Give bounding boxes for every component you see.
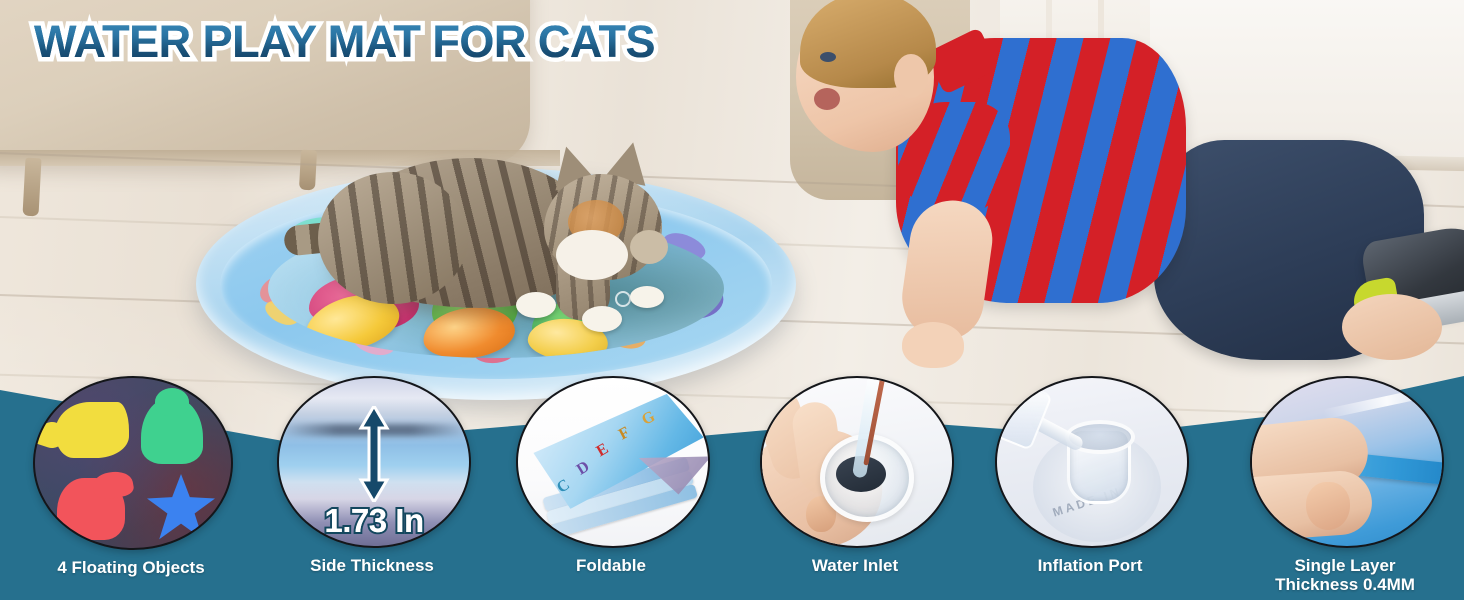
feature-label-inflation-port: Inflation Port — [995, 556, 1185, 575]
cat-paw — [630, 286, 664, 308]
foldable-image: C D E F G — [516, 376, 710, 548]
feature-label-water-inlet: Water Inlet — [760, 556, 950, 575]
fingernail — [1306, 482, 1350, 530]
child-ear — [894, 54, 928, 98]
port-cap — [995, 381, 1053, 451]
feature-label-single-layer-thickness: Single Layer Thickness 0.4MM — [1250, 556, 1440, 594]
feature-foldable[interactable]: C D E F G Foldable — [516, 376, 706, 575]
double-arrow-svg — [357, 406, 391, 502]
feature-label-side-thickness: Side Thickness — [277, 556, 467, 575]
child-hand — [902, 322, 964, 368]
folded-mat-stack: C D E F G — [526, 399, 697, 533]
cat-paw — [516, 292, 556, 318]
cat — [300, 138, 720, 358]
side-thickness-image: 1.73 In 1.73 In — [277, 376, 471, 548]
thickness-arrow-icon — [357, 406, 391, 507]
infographic-banner: WATER PLAY MAT FOR CATS WATER PLAY MAT F… — [0, 0, 1464, 600]
feature-water-inlet[interactable]: Water Inlet — [760, 376, 950, 575]
child-mouth — [814, 88, 840, 110]
water-inlet-image — [760, 376, 954, 548]
feature-inflation-port[interactable]: MADE IN Inflation Port — [995, 376, 1185, 575]
red-seal-shape — [57, 478, 125, 540]
yellow-fish-shape — [55, 402, 129, 458]
cat-paw — [582, 306, 622, 332]
page-title: WATER PLAY MAT FOR CATS — [34, 16, 655, 68]
thickness-value: 1.73 In — [279, 502, 469, 540]
cat-cheek — [556, 230, 628, 280]
feature-label-foldable: Foldable — [516, 556, 706, 575]
child-eye — [820, 52, 836, 62]
feature-single-layer-thickness[interactable]: Single Layer Thickness 0.4MM — [1250, 376, 1440, 594]
floating-objects-image — [33, 376, 233, 550]
feature-label-floating-objects: 4 Floating Objects — [33, 558, 229, 577]
feature-floating-objects[interactable]: 4 Floating Objects — [33, 376, 229, 577]
child-knee — [1342, 294, 1442, 360]
cat-haunch — [318, 172, 468, 304]
film-sheen — [1322, 383, 1444, 420]
sofa-leg — [22, 158, 41, 217]
single-layer-thickness-image — [1250, 376, 1444, 548]
inflation-port-image: MADE IN — [995, 376, 1189, 548]
green-penguin-shape — [141, 398, 203, 464]
blue-starfish-shape — [147, 474, 215, 542]
child — [786, 0, 1464, 394]
feature-side-thickness[interactable]: 1.73 In 1.73 In Side Thickness — [277, 376, 467, 575]
cat-muzzle — [630, 230, 668, 264]
